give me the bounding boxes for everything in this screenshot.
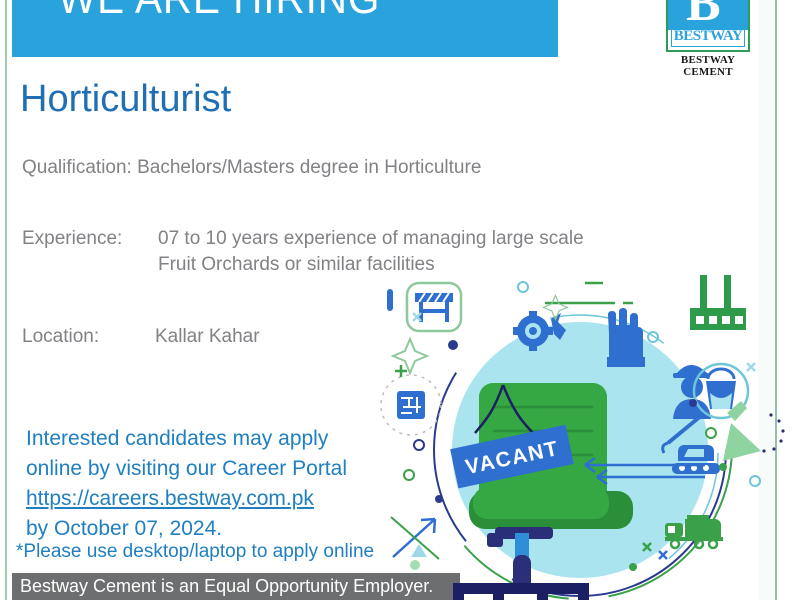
trowel-icon (723, 401, 761, 461)
plus-mark (395, 365, 407, 377)
experience-value: 07 to 10 years experience of managing la… (158, 226, 584, 278)
equal-opportunity-text: Bestway Cement is an Equal Opportunity E… (20, 576, 433, 597)
dash-marks (545, 283, 633, 303)
logo-letter-b: B (686, 0, 721, 30)
blueprint-icon (381, 375, 441, 435)
chair-seat-top (473, 487, 609, 519)
safety-gloves-icon (607, 308, 645, 367)
chair-lever (487, 533, 503, 547)
chair-base-bar (453, 583, 589, 594)
apply-line-2: online by visiting our Career Portal (26, 454, 347, 484)
sparkle-icon-2 (393, 339, 427, 373)
apply-line-1: Interested candidates may apply (26, 424, 347, 454)
logo-subtitle: BESTWAY CEMENT (660, 54, 756, 78)
qualification-label: Qualification: (22, 157, 132, 178)
location-value: Kallar Kahar (155, 324, 260, 350)
logo-wordmark: BESTWAY (660, 28, 756, 45)
small-bar-icon (387, 289, 393, 311)
left-border-line (5, 0, 7, 600)
factory-icon (690, 275, 746, 330)
x-mark-blue (659, 551, 667, 559)
location-label: Location: (22, 324, 99, 350)
we-are-hiring-banner: WE ARE HIRING (12, 0, 558, 57)
barrier-icon (407, 283, 461, 331)
bestway-logo: B BESTWAY BESTWAY CEMENT (660, 0, 756, 72)
dotted-arc (762, 413, 784, 452)
job-advertisement-poster: WE ARE HIRING B BESTWAY BESTWAY CEMENT H… (0, 0, 800, 600)
experience-label: Experience: (22, 226, 122, 252)
career-portal-link[interactable]: https://careers.bestway.com.pk (26, 484, 347, 514)
banner-title: WE ARE HIRING (58, 0, 380, 24)
desktop-note: *Please use desktop/laptop to apply onli… (16, 541, 374, 563)
vacancy-illustration: VACANT (375, 275, 795, 600)
apply-deadline: by October 07, 2024. (26, 514, 347, 544)
qualification-value: Bachelors/Masters degree in Horticulture (137, 157, 481, 178)
page-title: Horticulturist (20, 78, 231, 121)
apply-instructions: Interested candidates may apply online b… (26, 424, 347, 544)
qualification-row: Qualification: Bachelors/Masters degree … (22, 155, 481, 181)
experience-line-1: 07 to 10 years experience of managing la… (158, 226, 584, 252)
